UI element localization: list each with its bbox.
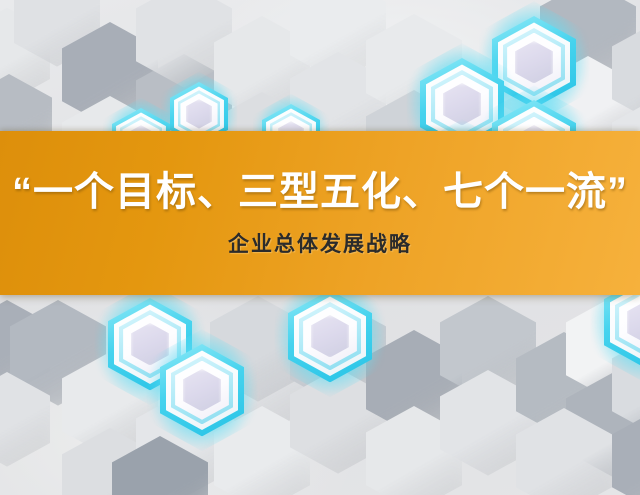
title-banner: “一个目标、三型五化、七个一流” 企业总体发展战略 [0,131,640,295]
page-subtitle: 企业总体发展战略 [228,234,412,255]
glowing-hexagon [288,290,372,382]
glowing-hexagon [160,344,244,436]
page-title: “一个目标、三型五化、七个一流” [12,172,628,212]
presentation-slide: “一个目标、三型五化、七个一流” 企业总体发展战略 [0,0,640,495]
